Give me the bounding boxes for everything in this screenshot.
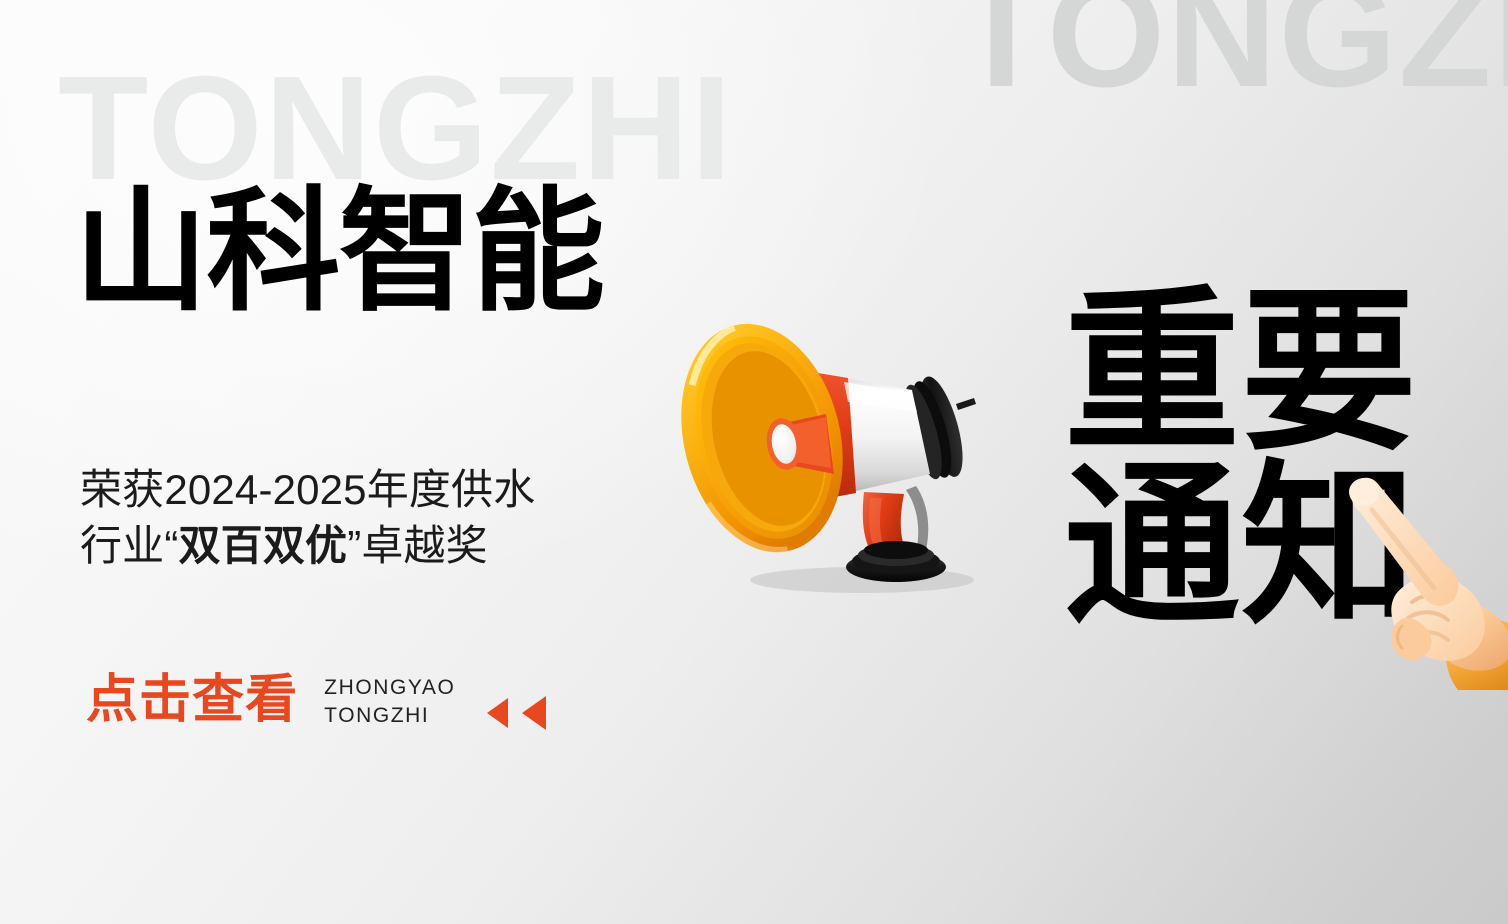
award-subtitle-line-1: 荣获2024-2025年度供水 <box>80 462 535 518</box>
triangle-left-icon-small[interactable] <box>487 698 508 728</box>
megaphone-icon <box>612 278 1032 598</box>
cta-pinyin: ZHONGYAO TONGZHI <box>324 674 455 729</box>
award-subtitle-suffix: 卓越奖 <box>361 522 488 569</box>
cta-pinyin-line-2: TONGZHI <box>324 702 455 730</box>
award-subtitle-prefix: 行业 <box>80 522 164 569</box>
quote-open: “ <box>164 522 178 569</box>
headline-line-1: 重要 <box>1064 286 1418 460</box>
quote-close: ” <box>347 522 361 569</box>
award-name-emphasis: 双百双优 <box>179 522 348 569</box>
award-subtitle-line-2: 行业“双百双优”卓越奖 <box>80 518 535 574</box>
pointing-hand-icon <box>1338 470 1508 690</box>
award-subtitle: 荣获2024-2025年度供水 行业“双百双优”卓越奖 <box>80 462 535 575</box>
cta-pinyin-line-1: ZHONGYAO <box>324 674 455 702</box>
watermark-tongzhi-right: TONGZHI <box>955 0 1508 110</box>
cta-label[interactable]: 点击查看 <box>86 674 298 726</box>
triangle-left-icon-large[interactable] <box>522 696 546 730</box>
announcement-banner: TONGZHI TONGZHI 山科智能 荣获2024-2025年度供水 行业“… <box>0 0 1508 924</box>
cta-arrow-group[interactable] <box>487 696 546 730</box>
cta-row[interactable]: 点击查看 ZHONGYAO TONGZHI <box>86 670 546 730</box>
brand-title: 山科智能 <box>74 186 604 320</box>
